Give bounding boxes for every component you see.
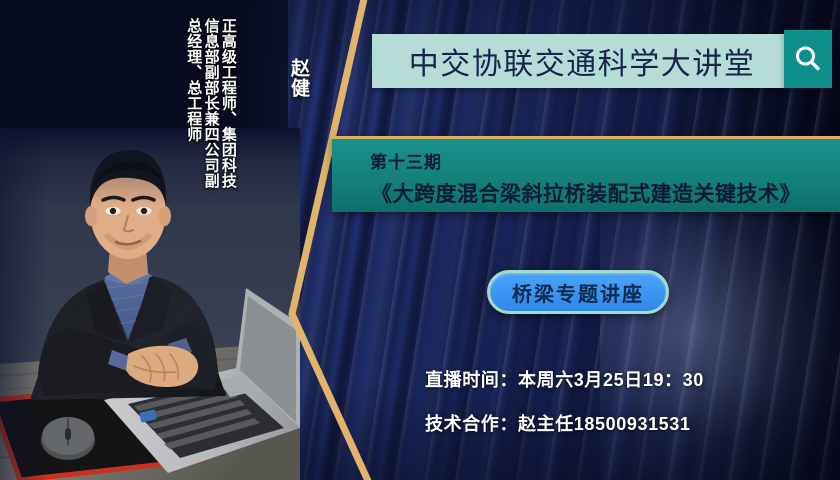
webinar-poster: 正高级工程师、集团科技 信息部副部长兼四公司副 总经理、总工程师 赵健 中交协联…	[0, 0, 840, 480]
page-title: 中交协联交通科学大讲堂	[409, 39, 756, 83]
contact-info: 技术合作：赵主任18500931531	[425, 410, 691, 436]
subtitle-band: 第十三期 《大跨度混合梁斜拉桥装配式建造关键技术》	[332, 136, 840, 212]
category-badge[interactable]: 桥梁专题讲座	[487, 270, 669, 314]
speaker-title-column-3: 总经理、总工程师	[186, 18, 201, 142]
episode-label: 第十三期	[370, 148, 840, 173]
speaker-title-columns: 正高级工程师、集团科技 信息部副部长兼四公司副 总经理、总工程师	[186, 18, 236, 268]
category-badge-label: 桥梁专题讲座	[512, 278, 644, 307]
search-button[interactable]	[784, 30, 832, 88]
speaker-photo	[0, 128, 300, 480]
speaker-title-column-2: 信息部副部长兼四公司副	[203, 18, 218, 189]
topic-title: 《大跨度混合梁斜拉桥装配式建造关键技术》	[332, 178, 840, 208]
search-icon	[793, 44, 823, 74]
broadcast-time: 直播时间：本周六3月25日19：30	[425, 366, 704, 392]
page-title-bar: 中交协联交通科学大讲堂	[372, 34, 792, 88]
speaker-name: 赵健	[288, 58, 308, 98]
speaker-title-column-1: 正高级工程师、集团科技	[221, 18, 236, 189]
